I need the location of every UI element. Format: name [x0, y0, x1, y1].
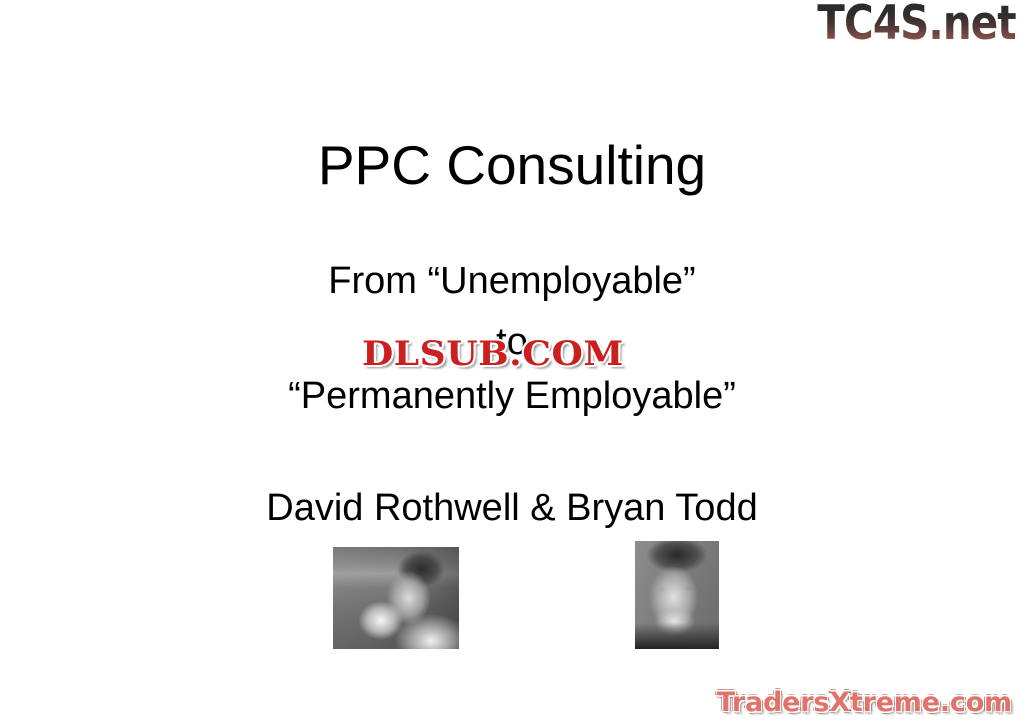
author-photo-david-rothwell	[333, 547, 459, 649]
watermark-tradersxtreme: TradersXtreme.com	[717, 688, 1012, 718]
subtitle-line-3: “Permanently Employable”	[0, 377, 1024, 415]
author-photo-bryan-todd	[635, 541, 719, 649]
subtitle-line-1: From “Unemployable”	[0, 262, 1024, 300]
presentation-slide: TC4S.net PPC Consulting From “Unemployab…	[0, 0, 1024, 724]
slide-title: PPC Consulting	[0, 137, 1024, 195]
watermark-tc4s: TC4S.net	[818, 0, 1016, 50]
watermark-dlsub: DLSUB.COM	[362, 337, 624, 373]
author-line: David Rothwell & Bryan Todd	[0, 489, 1024, 527]
